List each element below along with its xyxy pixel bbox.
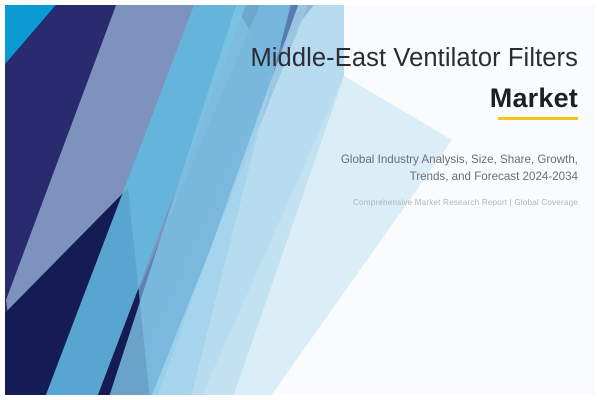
- page-title: Middle-East Ventilator Filters: [138, 44, 578, 73]
- page-title-emphasis: Market: [138, 83, 578, 114]
- report-subtitle-line-2: Trends, and Forecast 2024-2034: [158, 169, 578, 186]
- report-subtitle: Global Industry Analysis, Size, Share, G…: [158, 152, 578, 186]
- report-caption: Comprehensive Market Research Report | G…: [158, 197, 578, 208]
- report-subtitle-line-1: Global Industry Analysis, Size, Share, G…: [158, 152, 578, 169]
- report-cover-page: Middle-East Ventilator Filters Market Gl…: [0, 0, 600, 400]
